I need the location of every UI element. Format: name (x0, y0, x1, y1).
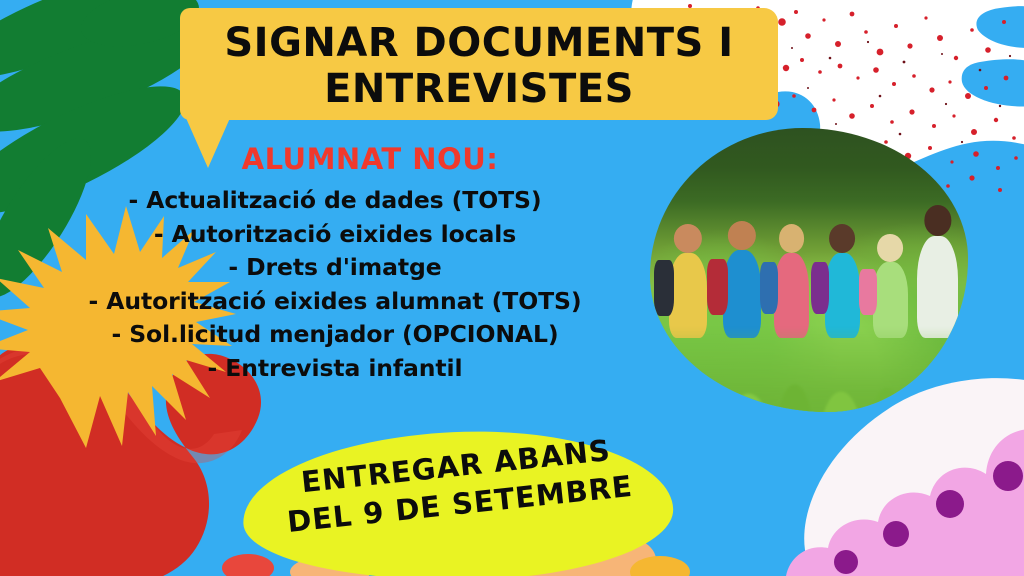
pink-scalloped-shape (786, 429, 1024, 576)
child-head (877, 234, 903, 262)
white-blob-notch (976, 6, 1024, 48)
page-title: SIGNAR DOCUMENTS I ENTREVISTES (180, 14, 778, 118)
list-item: - Drets d'imatge (20, 251, 650, 285)
body-content: ALUMNAT NOU: - Actualització de dades (T… (20, 142, 650, 386)
foreground-grass (650, 327, 968, 412)
backpack (707, 259, 728, 315)
child-figure (723, 250, 761, 338)
purple-dot (936, 490, 964, 518)
purple-dot (883, 521, 909, 547)
child-head (728, 221, 756, 250)
backpack (760, 262, 778, 315)
adult-head (924, 205, 951, 236)
children-photo (650, 128, 968, 412)
requirements-list: - Actualització de dades (TOTS) - Autori… (20, 184, 650, 386)
backpack (859, 269, 876, 315)
child-head (674, 224, 702, 253)
photo-content (650, 128, 968, 412)
backpack (811, 262, 829, 315)
title-line-2: ENTREVISTES (324, 66, 634, 112)
title-line-1: SIGNAR DOCUMENTS I (224, 20, 733, 66)
purple-dot (834, 550, 858, 574)
child-figure (669, 253, 707, 338)
adult-figure (917, 236, 958, 338)
child-figure (825, 253, 860, 338)
child-head (779, 224, 805, 253)
list-item: - Actualització de dades (TOTS) (20, 184, 650, 218)
child-head (829, 224, 855, 253)
list-item: - Entrevista infantil (20, 352, 650, 386)
purple-dot (993, 461, 1023, 491)
child-figure (774, 253, 809, 338)
list-item: - Sol.licitud menjador (OPCIONAL) (20, 318, 650, 352)
list-item: - Autorització eixides alumnat (TOTS) (20, 285, 650, 319)
section-subtitle: ALUMNAT NOU: (20, 142, 650, 176)
white-blob-notch-2 (962, 59, 1024, 106)
backpack (654, 260, 674, 316)
poster-canvas: SIGNAR DOCUMENTS I ENTREVISTES (0, 0, 1024, 576)
list-item: - Autorització eixides locals (20, 218, 650, 252)
